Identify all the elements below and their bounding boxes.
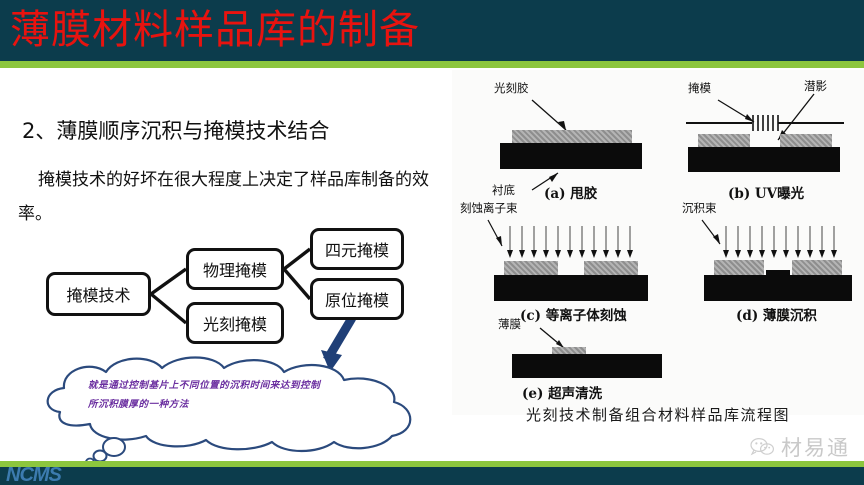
figure-panel-c: 刻蚀离子束 [458, 198, 666, 326]
panel-e-substrate-layer [512, 354, 662, 378]
figure-caption: 光刻技术制备组合材料样品库流程图 [452, 404, 864, 425]
flow-node-label: 光刻掩模 [203, 311, 267, 335]
panel-c-resist-right [584, 261, 638, 275]
panel-c-resist-left [504, 261, 558, 275]
cloud-callout-text: 就是通过控制基片上不同位置的沉积时间来达到控制 所沉积膜厚的一种方法 [88, 376, 388, 414]
flow-node-insitu-mask[interactable]: 原位掩模 [310, 278, 404, 320]
panel-d-resist-left [714, 260, 764, 275]
cloud-text-line-1: 就是通过控制基片上不同位置的沉积时间来达到控制 [88, 376, 388, 395]
panel-d-substrate-layer [704, 275, 852, 301]
panel-b-substrate-layer [688, 147, 840, 172]
panel-c-substrate-layer [494, 275, 648, 301]
panel-b-resist-right [780, 134, 832, 147]
watermark-text: 材易通 [781, 432, 850, 462]
figure-panel-e: 薄膜 (e) 超声清洗 [492, 314, 712, 414]
panel-b-resist-left [698, 134, 750, 147]
panel-e-film-layer [552, 347, 586, 354]
cloud-text-line-2: 所沉积膜厚的一种方法 [88, 395, 388, 414]
flow-node-physical-mask[interactable]: 物理掩模 [186, 248, 284, 290]
figure-panel-a: 光刻胶 衬底 (a) 甩胶 [470, 78, 660, 206]
figure-panel-d: 沉积束 [670, 198, 862, 326]
flow-node-label: 物理掩模 [203, 257, 267, 281]
flow-node-quaternary-mask[interactable]: 四元掩模 [310, 228, 404, 270]
cloud-callout: 就是通过控制基片上不同位置的沉积时间来达到控制 所沉积膜厚的一种方法 [18, 352, 448, 464]
ncms-logo: NCMS [6, 464, 61, 485]
panel-a-annotation-substrate: 衬底 [492, 182, 515, 198]
flow-node-photolithography-mask[interactable]: 光刻掩模 [186, 302, 284, 344]
flow-node-label: 四元掩模 [325, 237, 389, 261]
watermark: 材易通 [749, 432, 850, 462]
panel-a-substrate-layer [500, 143, 642, 169]
flow-node-label: 掩模技术 [66, 282, 130, 306]
figure-panel-b: 掩模 潜影 (b) UV曝光 [666, 78, 858, 206]
process-flow-figure: 光刻胶 衬底 (a) 甩胶 掩模 潜影 [452, 70, 864, 415]
panel-d-label: (d) 薄膜沉积 [736, 304, 817, 324]
slide-canvas: 薄膜材料样品库的制备 2、薄膜顺序沉积与掩模技术结合 掩模技术的好坏在很大程度上… [0, 0, 864, 485]
flow-node-mask-technology[interactable]: 掩模技术 [46, 272, 151, 316]
flow-node-label: 原位掩模 [325, 287, 389, 311]
panel-b-uv-beam-icon [750, 114, 790, 132]
panel-b-mask-plate-left [686, 122, 752, 124]
panel-d-resist-right [792, 260, 842, 275]
panel-e-label: (e) 超声清洗 [522, 382, 602, 402]
panel-a-resist-layer [512, 130, 632, 143]
wechat-icon [749, 436, 775, 458]
footer-bar [0, 467, 864, 485]
